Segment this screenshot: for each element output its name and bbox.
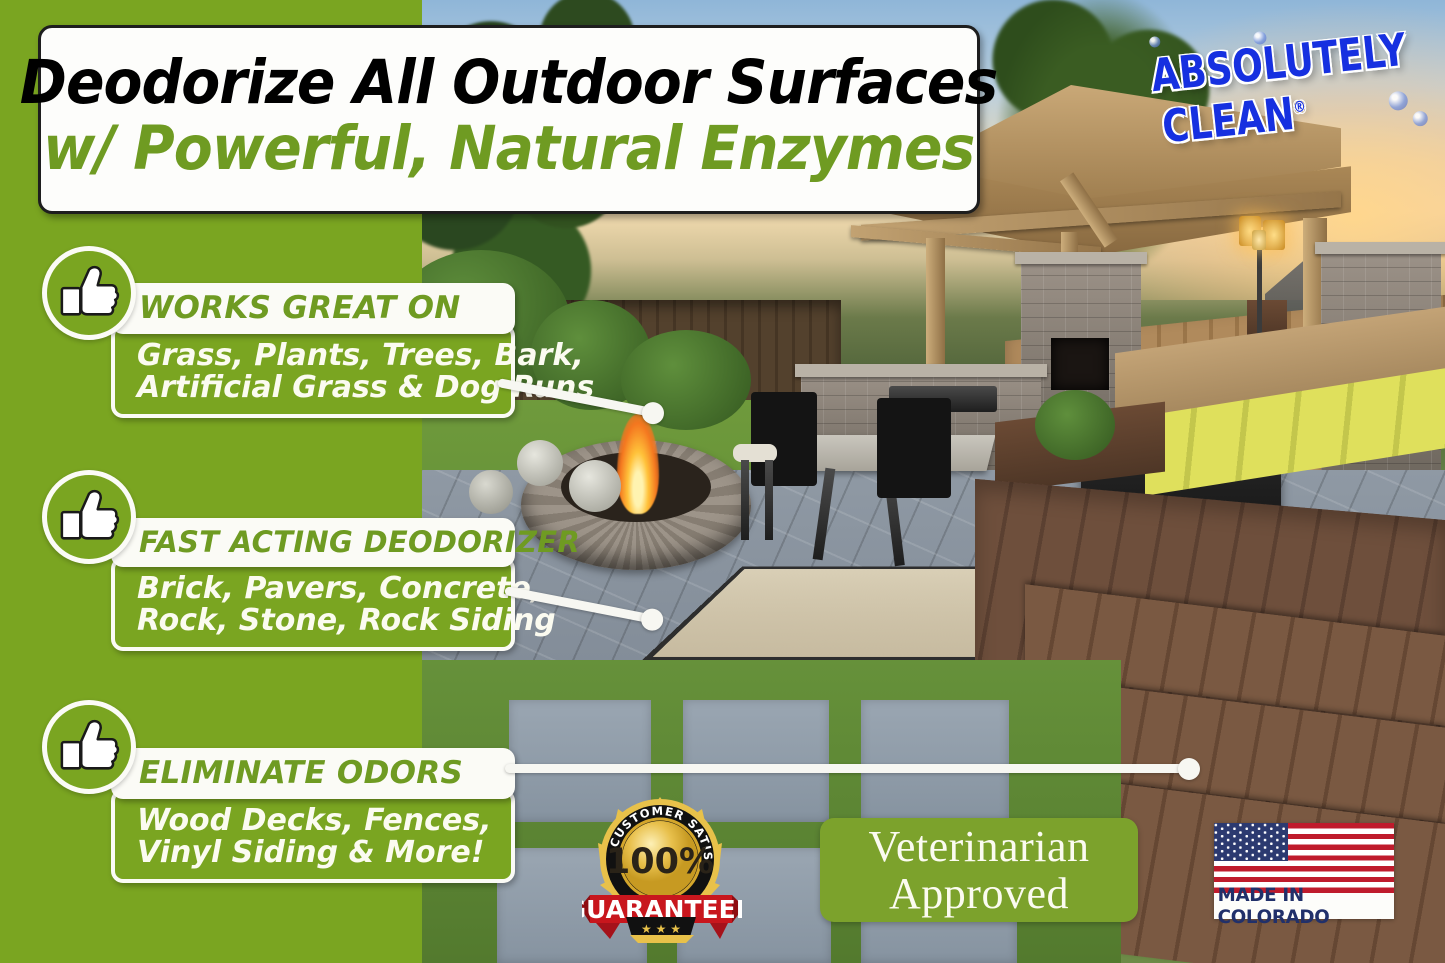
feature-block-3: ELIMINATE ODORS Wood Decks, Fences, Viny…: [111, 748, 515, 883]
deck-shrub: [1035, 390, 1115, 460]
feature-1-body-line-1: Grass, Plants, Trees, Bark,: [137, 340, 495, 372]
headline-line-1: Deodorize All Outdoor Surfaces: [20, 53, 998, 113]
thumbs-up-icon: [58, 716, 120, 778]
seal-star-tab: ★ ★ ★: [626, 917, 696, 943]
made-in-colorado-label: MADE IN COLORADO: [1218, 893, 1391, 919]
hanging-lantern: [1263, 220, 1285, 250]
feature-2-thumbs-up-badge: [42, 470, 136, 564]
feature-2-body-line-1: Brick, Pavers, Concrete,: [137, 573, 495, 605]
feature-block-2: FAST ACTING DEODORIZER Brick, Pavers, Co…: [111, 518, 515, 651]
feature-1-title: WORKS GREAT ON: [111, 283, 515, 334]
thumbs-up-icon: [58, 486, 120, 548]
bar-stool-leg: [741, 460, 749, 540]
bar-stool-leg: [765, 460, 773, 540]
feature-3-thumbs-up-badge: [42, 700, 136, 794]
feature-3-body-line-2: Vinyl Siding & More!: [137, 837, 495, 869]
counter-top: [795, 364, 1047, 377]
feature-3-body-line-1: Wood Decks, Fences,: [137, 805, 495, 837]
seal-percent: 100%: [606, 842, 714, 882]
thumbs-up-icon: [58, 262, 120, 324]
stepping-slab: [861, 700, 1009, 822]
feature-2-body-line-2: Rock, Stone, Rock Siding: [137, 605, 495, 637]
vet-line-1: Veterinarian: [869, 825, 1090, 868]
chimney-cap: [1015, 252, 1147, 264]
fireplace-opening: [1051, 338, 1109, 390]
callout-line-3: [505, 764, 1191, 773]
seal-stars: ★ ★ ★: [641, 922, 681, 936]
callout-dot: [1178, 758, 1200, 780]
headline-line-2: w/ Powerful, Natural Enzymes: [43, 118, 974, 180]
made-in-colorado-badge: MADE IN COLORADO: [1214, 823, 1394, 919]
advertisement-banner: ABSOLUTELY CLEAN® Deodorize All Outdoor …: [0, 0, 1445, 963]
satisfaction-guarantee-seal: CUSTOMER SATISFACTION 100% GUARANTEED ★ …: [582, 797, 742, 943]
feature-1-body: Grass, Plants, Trees, Bark, Artificial G…: [111, 324, 515, 418]
registered-trademark-icon: ®: [1293, 98, 1307, 117]
woven-lantern: [469, 470, 513, 514]
feature-block-1: WORKS GREAT ON Grass, Plants, Trees, Bar…: [111, 283, 515, 418]
veterinarian-approved-badge: Veterinarian Approved: [820, 818, 1138, 922]
feature-3-body: Wood Decks, Fences, Vinyl Siding & More!: [111, 789, 515, 883]
vet-line-2: Approved: [889, 872, 1069, 915]
patio-chair: [751, 392, 817, 486]
feature-2-body: Brick, Pavers, Concrete, Rock, Stone, Ro…: [111, 557, 515, 651]
us-flag-stars: [1214, 823, 1288, 861]
patio-chair: [877, 398, 951, 498]
chimney-cap: [1315, 242, 1445, 254]
feature-2-title: FAST ACTING DEODORIZER: [111, 518, 515, 567]
headline-box: Deodorize All Outdoor Surfaces w/ Powerf…: [38, 25, 980, 214]
feature-3-title: ELIMINATE ODORS: [111, 748, 515, 799]
woven-lantern: [569, 460, 621, 512]
lamp-head: [1252, 230, 1266, 250]
feature-1-thumbs-up-badge: [42, 246, 136, 340]
feature-1-body-line-2: Artificial Grass & Dog Runs: [137, 372, 495, 404]
woven-lantern: [517, 440, 563, 486]
